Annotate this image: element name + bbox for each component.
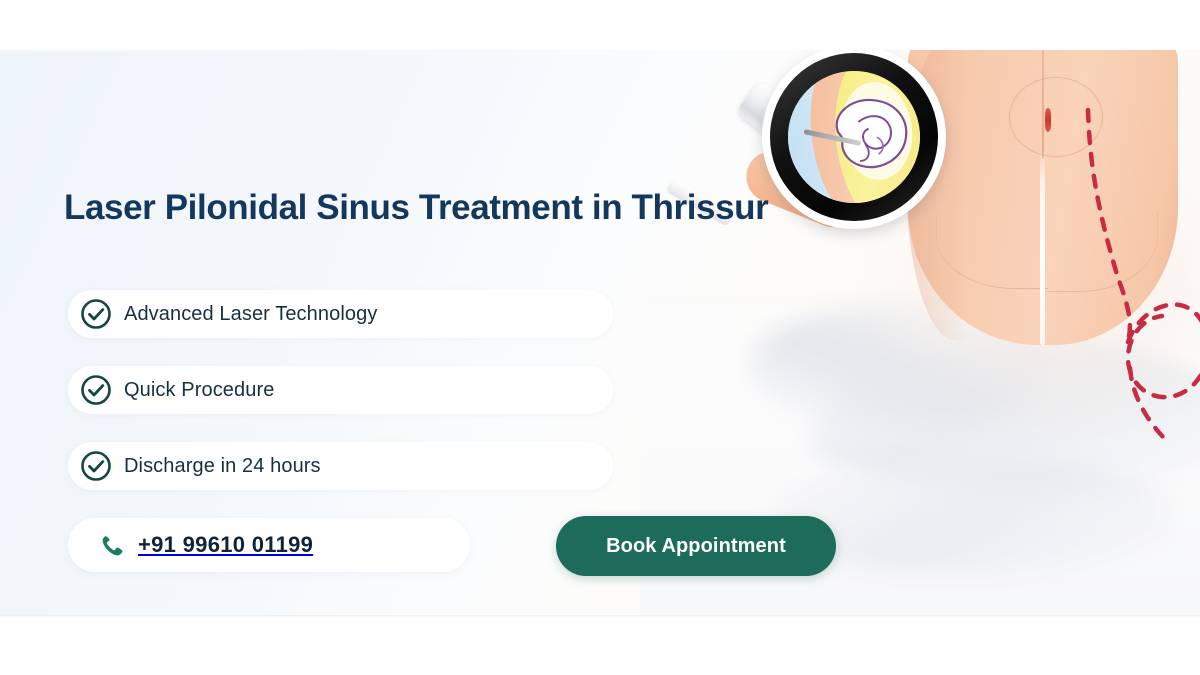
feature-item-advanced-laser-technology[interactable]: Advanced Laser Technology	[68, 290, 613, 338]
hero-banner: Laser Pilonidal Sinus Treatment in Thris…	[0, 50, 1200, 615]
feature-item-quick-procedure[interactable]: Quick Procedure	[68, 366, 613, 414]
magnifying-glass-icon	[762, 50, 946, 229]
feature-label: Quick Procedure	[124, 379, 274, 402]
pilonidal-sinus-illustration	[740, 50, 1200, 440]
check-circle-icon	[80, 374, 112, 406]
phone-handset-icon	[100, 533, 124, 557]
feature-item-discharge-in-24-hours[interactable]: Discharge in 24 hours	[68, 442, 613, 490]
sinus-pit-marker	[1045, 108, 1051, 132]
feature-label: Discharge in 24 hours	[124, 455, 321, 478]
phone-number-link[interactable]: +91 99610 01199	[68, 518, 470, 572]
natal-cleft-highlight	[1040, 150, 1045, 345]
check-circle-icon	[80, 298, 112, 330]
page-title: Laser Pilonidal Sinus Treatment in Thris…	[64, 188, 768, 228]
book-appointment-button[interactable]: Book Appointment	[556, 516, 836, 576]
feature-list: Advanced Laser Technology Quick Procedur…	[68, 290, 628, 518]
check-circle-icon	[80, 450, 112, 482]
feature-label: Advanced Laser Technology	[124, 303, 377, 326]
phone-number-text: +91 99610 01199	[138, 532, 313, 558]
red-dashed-pointer-icon	[1070, 110, 1200, 440]
screenshot-root: Laser Pilonidal Sinus Treatment in Thris…	[0, 0, 1200, 675]
magnifier-lens-view	[788, 71, 920, 203]
